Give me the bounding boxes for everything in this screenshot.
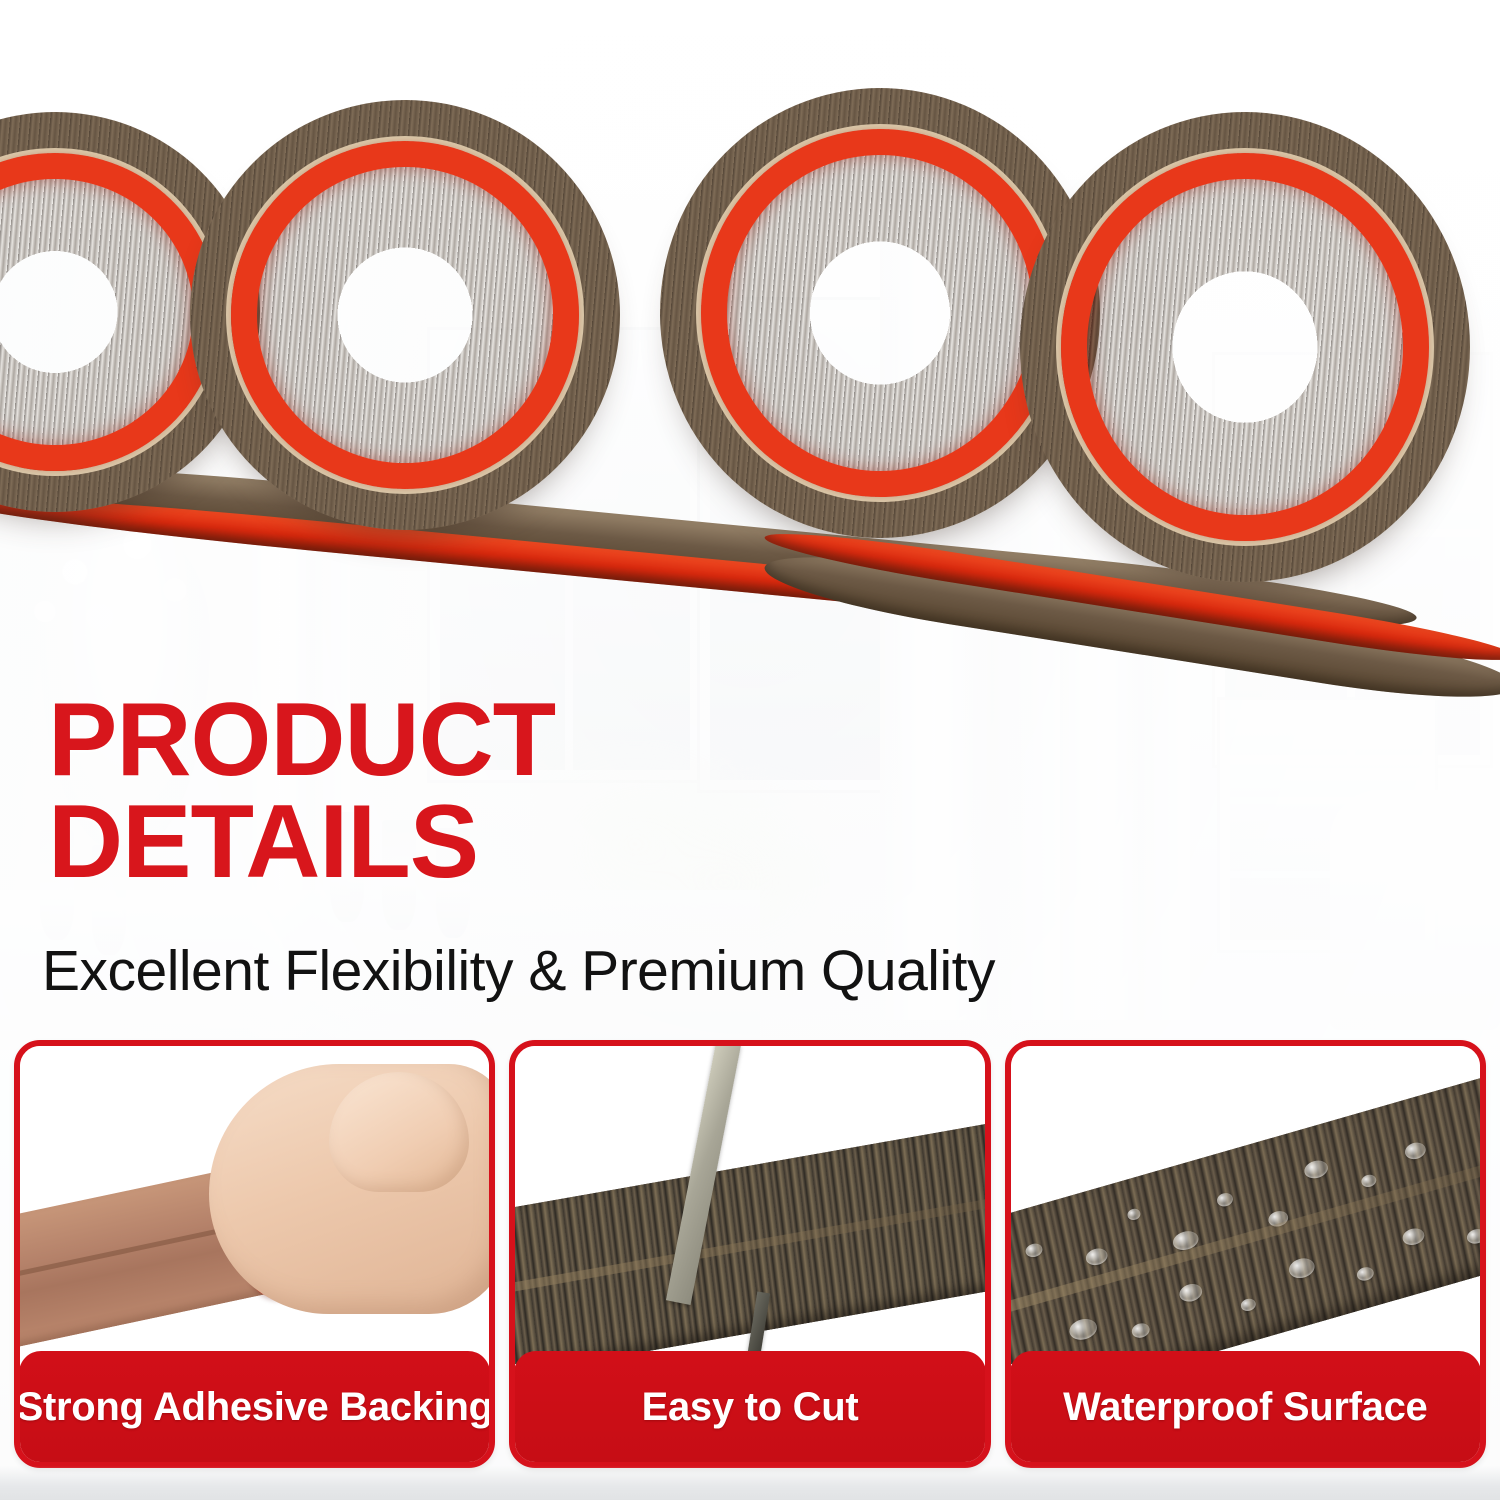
feature-card-caption: Easy to Cut [514, 1351, 985, 1463]
feature-card-easy-to-cut[interactable]: Easy to Cut [509, 1040, 990, 1468]
wet-wood-trim-strip [1011, 1060, 1480, 1364]
thumb-graphic [329, 1072, 469, 1192]
feature-card-caption: Waterproof Surface [1010, 1351, 1481, 1463]
page-title: PRODUCT DETAILS [48, 690, 1248, 894]
page-subtitle: Excellent Flexibility & Premium Quality [42, 938, 995, 1004]
page-title-line-2: DETAILS [48, 792, 1248, 894]
dark-wood-trim-strip [515, 1119, 984, 1364]
scissors-cutting-trim-photo [515, 1046, 984, 1364]
bottom-shadow-band [0, 1466, 1500, 1500]
coil-loop-4 [1020, 112, 1470, 582]
hero-coiled-strips [0, 0, 1500, 720]
feature-card-adhesive[interactable]: Strong Adhesive Backing [14, 1040, 495, 1468]
feature-card-caption: Strong Adhesive Backing [19, 1351, 490, 1463]
product-details-infographic: PRODUCT DETAILS Excellent Flexibility & … [0, 0, 1500, 1500]
water-droplets-on-trim-photo [1011, 1046, 1480, 1364]
feature-card-waterproof[interactable]: Waterproof Surface [1005, 1040, 1486, 1468]
coil-loop-2 [190, 100, 620, 530]
feature-card-row: Strong Adhesive Backing Easy to Cut [14, 1040, 1486, 1468]
hand-graphic [209, 1064, 489, 1314]
page-title-line-1: PRODUCT [48, 690, 1248, 792]
hand-peeling-adhesive-liner-photo [20, 1046, 489, 1364]
